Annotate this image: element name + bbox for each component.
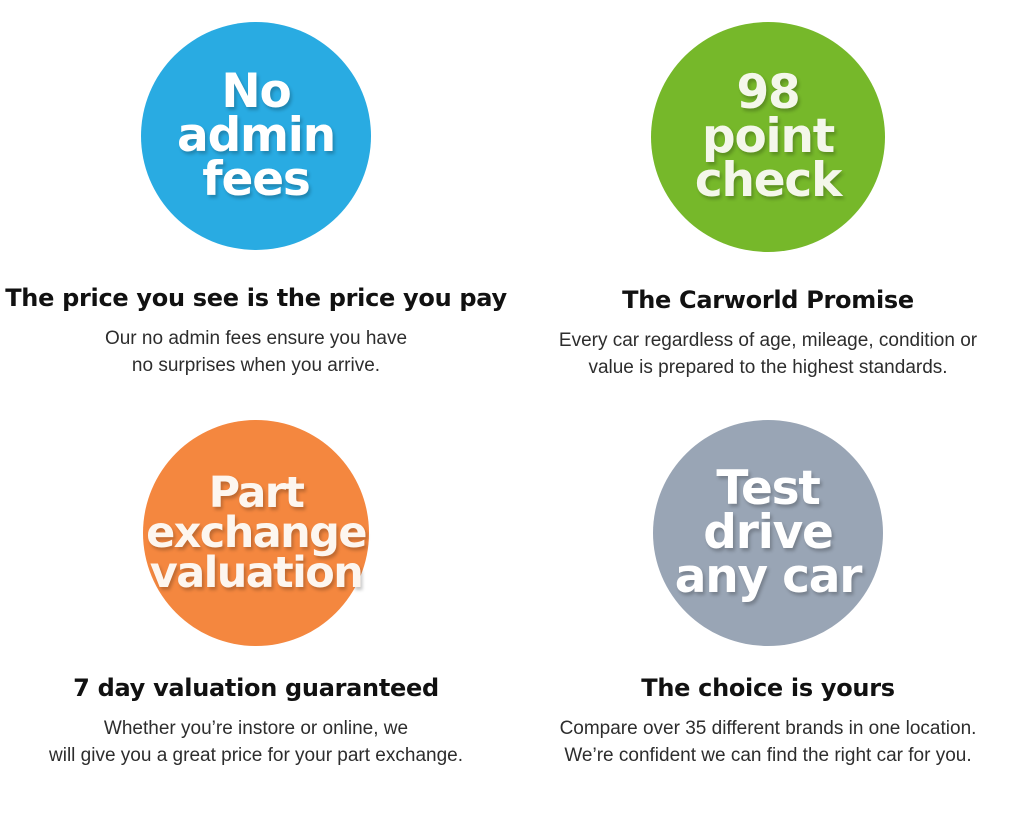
usp-card-test-drive-any-car: Test drive any car The choice is yours C… — [512, 410, 1024, 819]
badge-circle-98-point-check: 98 point check — [651, 22, 885, 252]
badge-circle-test-drive-any-car: Test drive any car — [653, 420, 883, 646]
usp-headline: The Carworld Promise — [622, 286, 914, 314]
badge-text-part-exchange-valuation: Part exchange valuation — [146, 473, 366, 593]
usp-body: Every car regardless of age, mileage, co… — [559, 328, 977, 382]
usp-headline: The price you see is the price you pay — [5, 284, 507, 312]
usp-card-no-admin-fees: No admin fees The price you see is the p… — [0, 0, 512, 410]
usp-card-98-point-check: 98 point check The Carworld Promise Ever… — [512, 0, 1024, 410]
usp-body-line: Compare over 35 different brands in one … — [560, 716, 977, 743]
badge-line: any car — [675, 555, 862, 599]
badge-line: Part — [146, 473, 366, 513]
usp-grid: No admin fees The price you see is the p… — [0, 0, 1024, 819]
usp-body-line: Whether you’re instore or online, we — [49, 716, 463, 743]
badge-line: check — [695, 159, 841, 203]
badge-line: exchange — [146, 513, 366, 553]
badge-line: valuation — [146, 553, 366, 593]
usp-body-line: Every car regardless of age, mileage, co… — [559, 328, 977, 355]
badge-circle-no-admin-fees: No admin fees — [141, 22, 371, 250]
badge-circle-part-exchange-valuation: Part exchange valuation — [143, 420, 369, 646]
usp-headline: The choice is yours — [641, 674, 894, 702]
usp-card-part-exchange-valuation: Part exchange valuation 7 day valuation … — [0, 410, 512, 819]
usp-body-line: We’re confident we can find the right ca… — [560, 743, 977, 770]
usp-body: Our no admin fees ensure you have no sur… — [105, 326, 407, 380]
usp-body-line: will give you a great price for your par… — [49, 743, 463, 770]
badge-text-no-admin-fees: No admin fees — [177, 70, 335, 201]
usp-body-line: no surprises when you arrive. — [105, 353, 407, 380]
usp-headline: 7 day valuation guaranteed — [73, 674, 439, 702]
usp-body: Whether you’re instore or online, we wil… — [49, 716, 463, 770]
usp-body-line: value is prepared to the highest standar… — [559, 355, 977, 382]
usp-body-line: Our no admin fees ensure you have — [105, 326, 407, 353]
badge-line: fees — [177, 158, 335, 202]
usp-body: Compare over 35 different brands in one … — [560, 716, 977, 770]
badge-text-test-drive-any-car: Test drive any car — [675, 467, 862, 598]
badge-text-98-point-check: 98 point check — [695, 71, 841, 202]
